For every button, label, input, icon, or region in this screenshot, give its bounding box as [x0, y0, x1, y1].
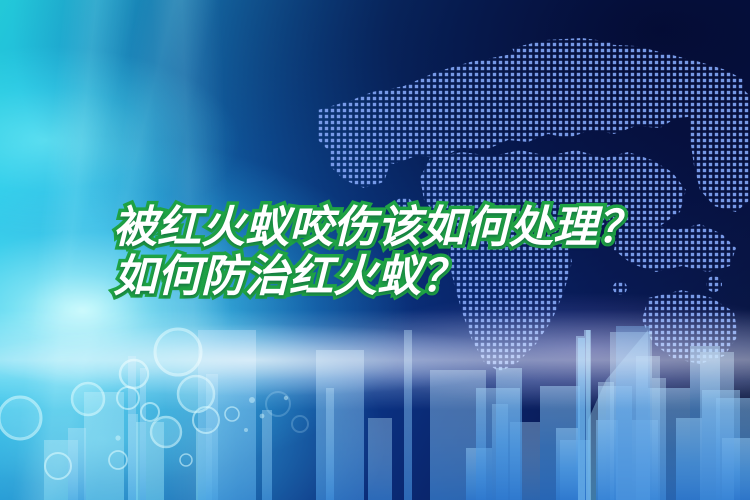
headline: 被红火蚁咬伤该如何处理？ 如何防治红火蚁？	[113, 203, 733, 301]
headline-line-1: 被红火蚁咬伤该如何处理？	[113, 203, 733, 252]
poster-canvas: 被红火蚁咬伤该如何处理？ 如何防治红火蚁？	[0, 0, 750, 500]
headline-line-2: 如何防治红火蚁？	[113, 252, 733, 301]
